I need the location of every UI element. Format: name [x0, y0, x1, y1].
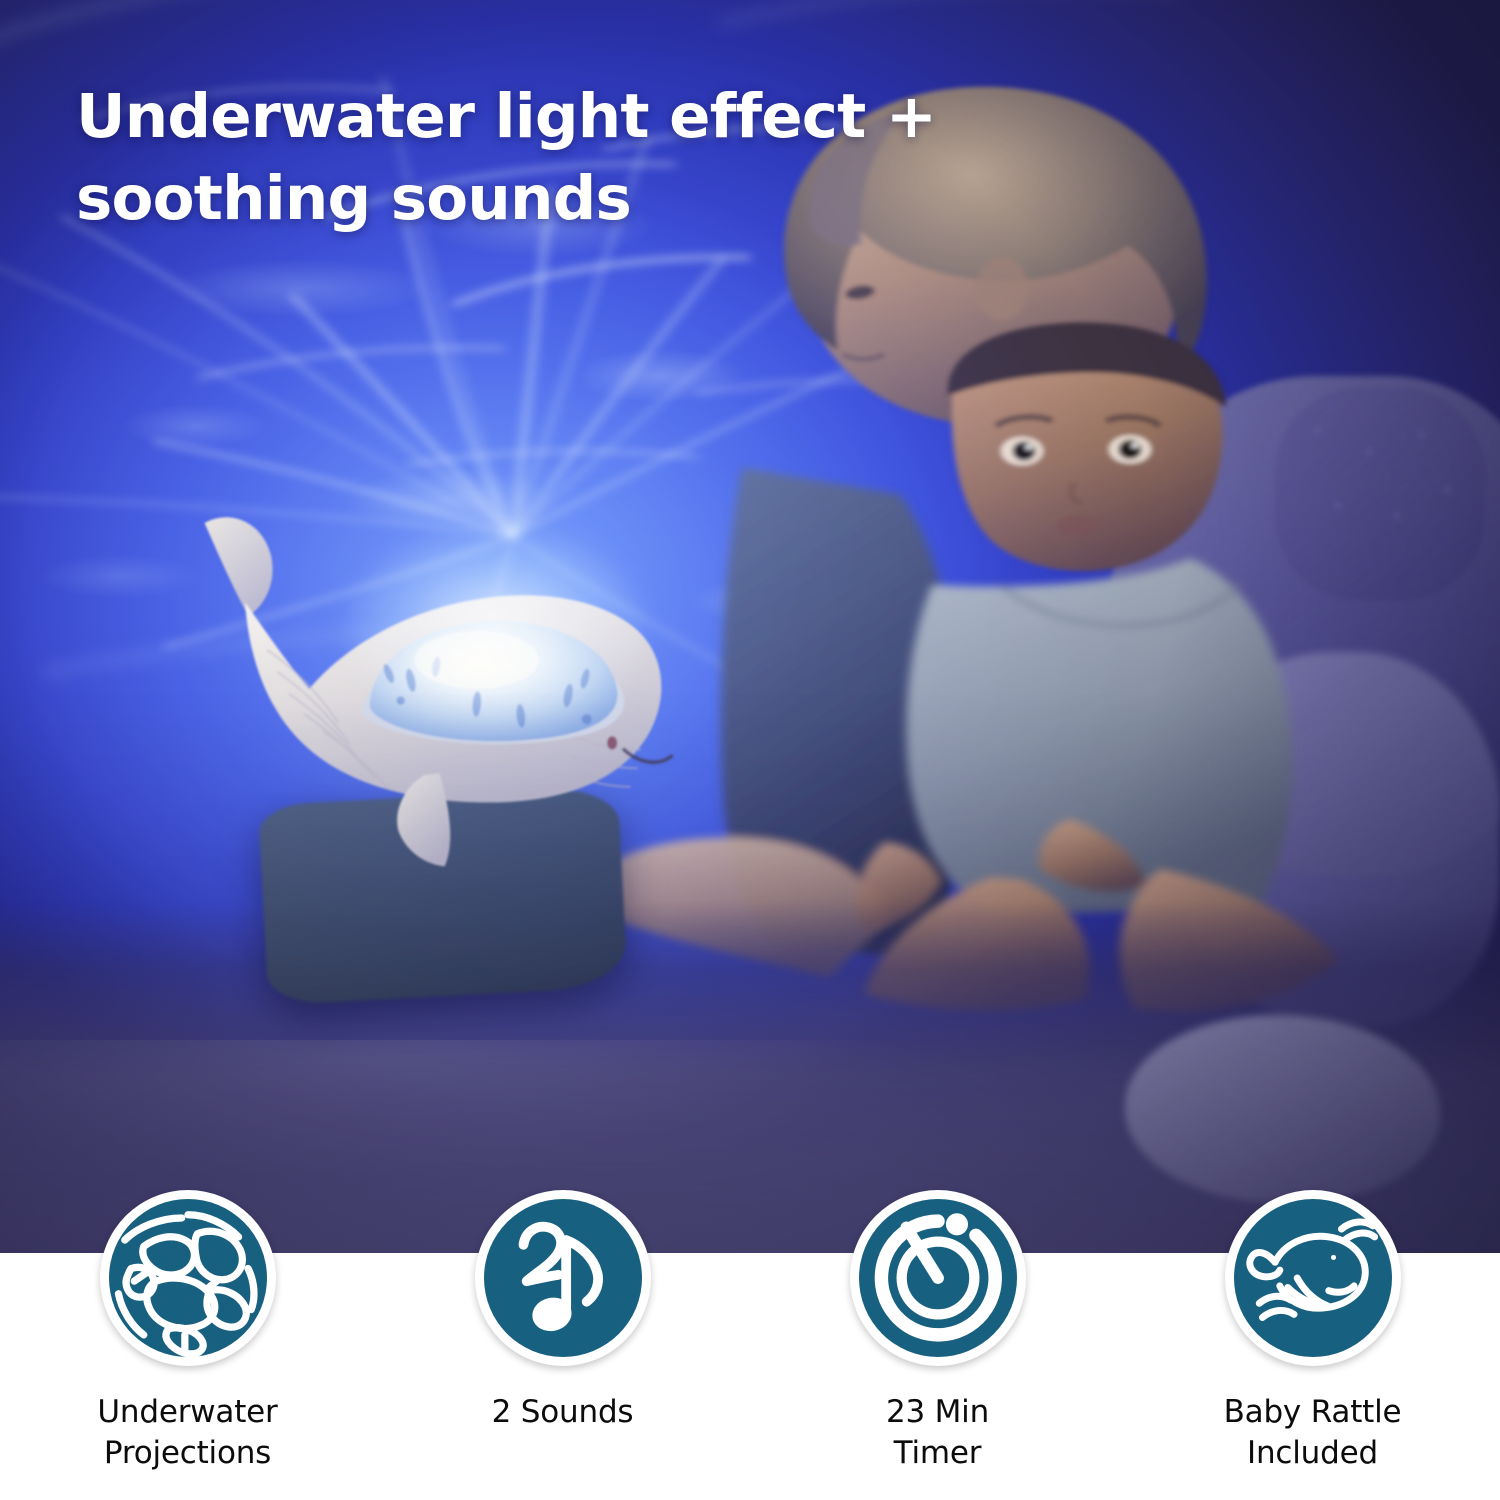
feature-underwater-projections[interactable]: Underwater Projections [0, 1190, 375, 1474]
feature-badge [475, 1190, 651, 1366]
feature-two-sounds[interactable]: 2 Sounds [375, 1190, 750, 1433]
product-marketing-image: Underwater light effect + soothing sound… [0, 0, 1500, 1500]
feature-label: Baby Rattle Included [1224, 1392, 1402, 1474]
water-caustics-icon [109, 1199, 267, 1357]
feature-baby-rattle[interactable]: Baby Rattle Included [1125, 1190, 1500, 1474]
feature-badge [100, 1190, 276, 1366]
feature-badge [1225, 1190, 1401, 1366]
feature-label: 2 Sounds [492, 1392, 634, 1433]
page-title: Underwater light effect + soothing sound… [76, 76, 956, 239]
feature-timer[interactable]: 23 Min Timer [750, 1190, 1125, 1474]
feature-badge [850, 1190, 1026, 1366]
feature-label: Underwater Projections [97, 1392, 277, 1474]
stopwatch-timer-icon [859, 1199, 1017, 1357]
feature-strip: Underwater Projections 2 Sounds [0, 1190, 1500, 1500]
two-sounds-music-note-icon [484, 1199, 642, 1357]
whale-rattle-icon [1234, 1199, 1392, 1357]
feature-label: 23 Min Timer [886, 1392, 989, 1474]
